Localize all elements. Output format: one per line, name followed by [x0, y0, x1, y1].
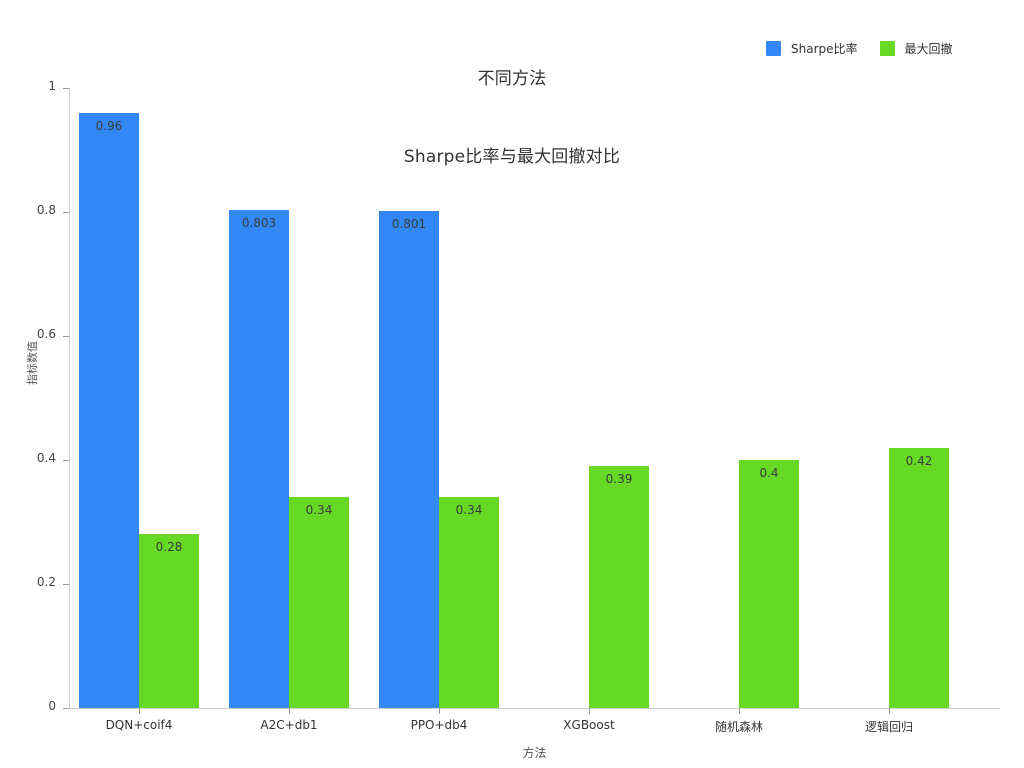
- bar[interactable]: 0.801: [379, 211, 439, 708]
- legend-item[interactable]: 最大回撤: [880, 40, 953, 57]
- bar[interactable]: 0.42: [889, 448, 949, 708]
- bar-value-label: 0.42: [889, 454, 949, 468]
- legend-label: Sharpe比率: [791, 40, 858, 57]
- bar[interactable]: 0.96: [79, 113, 139, 708]
- x-axis-title: 方法: [69, 744, 1000, 761]
- y-axis-tick-label: 0.8: [37, 203, 56, 217]
- x-axis-tick-label: A2C+db1: [214, 718, 364, 732]
- x-axis-tick-label: PPO+db4: [364, 718, 514, 732]
- x-axis-tick-label: 逻辑回归: [814, 718, 964, 735]
- y-axis-title: 指标数值: [24, 328, 40, 398]
- bar-value-label: 0.96: [79, 119, 139, 133]
- legend-swatch-icon: [766, 41, 781, 56]
- x-axis-tick-mark: [439, 708, 440, 714]
- bar-value-label: 0.803: [229, 216, 289, 230]
- y-axis-tick-label: 0.4: [37, 451, 56, 465]
- x-axis-tick-mark: [139, 708, 140, 714]
- bar-value-label: 0.39: [589, 472, 649, 486]
- legend-swatch-icon: [880, 41, 895, 56]
- bars-layer: 0.960.8030.8010.280.340.340.390.40.42: [69, 88, 1000, 708]
- bar[interactable]: 0.39: [589, 466, 649, 708]
- x-axis-tick-label: XGBoost: [514, 718, 664, 732]
- x-axis-tick-mark: [589, 708, 590, 714]
- y-axis-tick-label: 1: [48, 79, 56, 93]
- bar[interactable]: 0.803: [229, 210, 289, 708]
- x-axis-tick-mark: [889, 708, 890, 714]
- bar[interactable]: 0.34: [289, 497, 349, 708]
- legend-item[interactable]: Sharpe比率: [766, 40, 858, 57]
- x-axis-tick-mark: [289, 708, 290, 714]
- bar-value-label: 0.4: [739, 466, 799, 480]
- y-axis-tick-label: 0: [48, 699, 56, 713]
- bar[interactable]: 0.34: [439, 497, 499, 708]
- x-axis-tick-label: DQN+coif4: [64, 718, 214, 732]
- bar-value-label: 0.34: [289, 503, 349, 517]
- legend-label: 最大回撤: [905, 40, 953, 57]
- x-axis-line: [69, 708, 1000, 709]
- y-axis-tick-mark: [63, 708, 69, 709]
- x-axis-tick-label: 随机森林: [664, 718, 814, 735]
- bar-value-label: 0.34: [439, 503, 499, 517]
- y-axis-tick-label: 0.2: [37, 575, 56, 589]
- bar-chart: 不同方法 Sharpe比率与最大回撤对比 Sharpe比率最大回撤 00.20.…: [0, 0, 1024, 768]
- bar-value-label: 0.28: [139, 540, 199, 554]
- x-axis-tick-mark: [739, 708, 740, 714]
- chart-legend: Sharpe比率最大回撤: [766, 40, 953, 57]
- bar[interactable]: 0.28: [139, 534, 199, 708]
- bar-value-label: 0.801: [379, 217, 439, 231]
- bar[interactable]: 0.4: [739, 460, 799, 708]
